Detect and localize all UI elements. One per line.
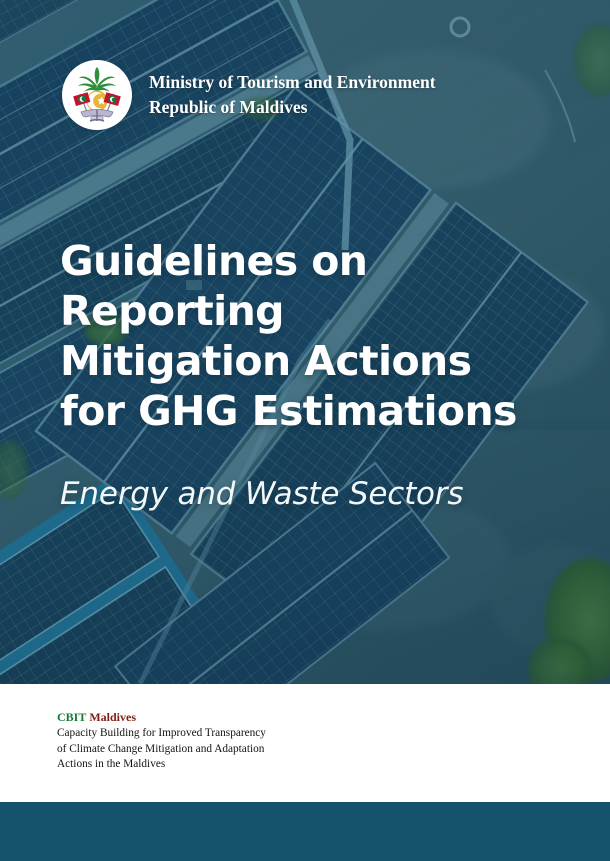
project-title-cbit: CBIT <box>57 710 86 724</box>
title-line-3: Mitigation Actions <box>60 336 580 386</box>
project-title-maldives: Maldives <box>89 710 136 724</box>
title-line-2: Reporting <box>60 286 580 336</box>
ministry-name-line1: Ministry of Tourism and Environment <box>149 70 436 95</box>
document-subtitle: Energy and Waste Sectors <box>60 474 580 514</box>
project-description-line-1: Capacity Building for Improved Transpare… <box>57 726 337 742</box>
title-line-1: Guidelines on <box>60 236 580 286</box>
project-info: CBIT Maldives Capacity Building for Impr… <box>57 709 337 773</box>
ministry-name: Ministry of Tourism and Environment Repu… <box>149 70 436 120</box>
title-line-4: for GHG Estimations <box>60 386 580 436</box>
document-title: Guidelines on Reporting Mitigation Actio… <box>60 236 580 436</box>
ministry-lockup: Ministry of Tourism and Environment Repu… <box>62 60 436 130</box>
report-cover: Ministry of Tourism and Environment Repu… <box>0 0 610 861</box>
project-title: CBIT Maldives <box>57 709 337 725</box>
bottom-accent-bar <box>0 802 610 861</box>
project-description: Capacity Building for Improved Transpare… <box>57 726 337 773</box>
project-description-line-2: of Climate Change Mitigation and Adaptat… <box>57 742 337 758</box>
maldives-emblem-icon <box>62 60 132 130</box>
project-description-line-3: Actions in the Maldives <box>57 757 337 773</box>
cover-footer: CBIT Maldives Capacity Building for Impr… <box>0 684 610 802</box>
ministry-name-line2: Republic of Maldives <box>149 95 436 120</box>
